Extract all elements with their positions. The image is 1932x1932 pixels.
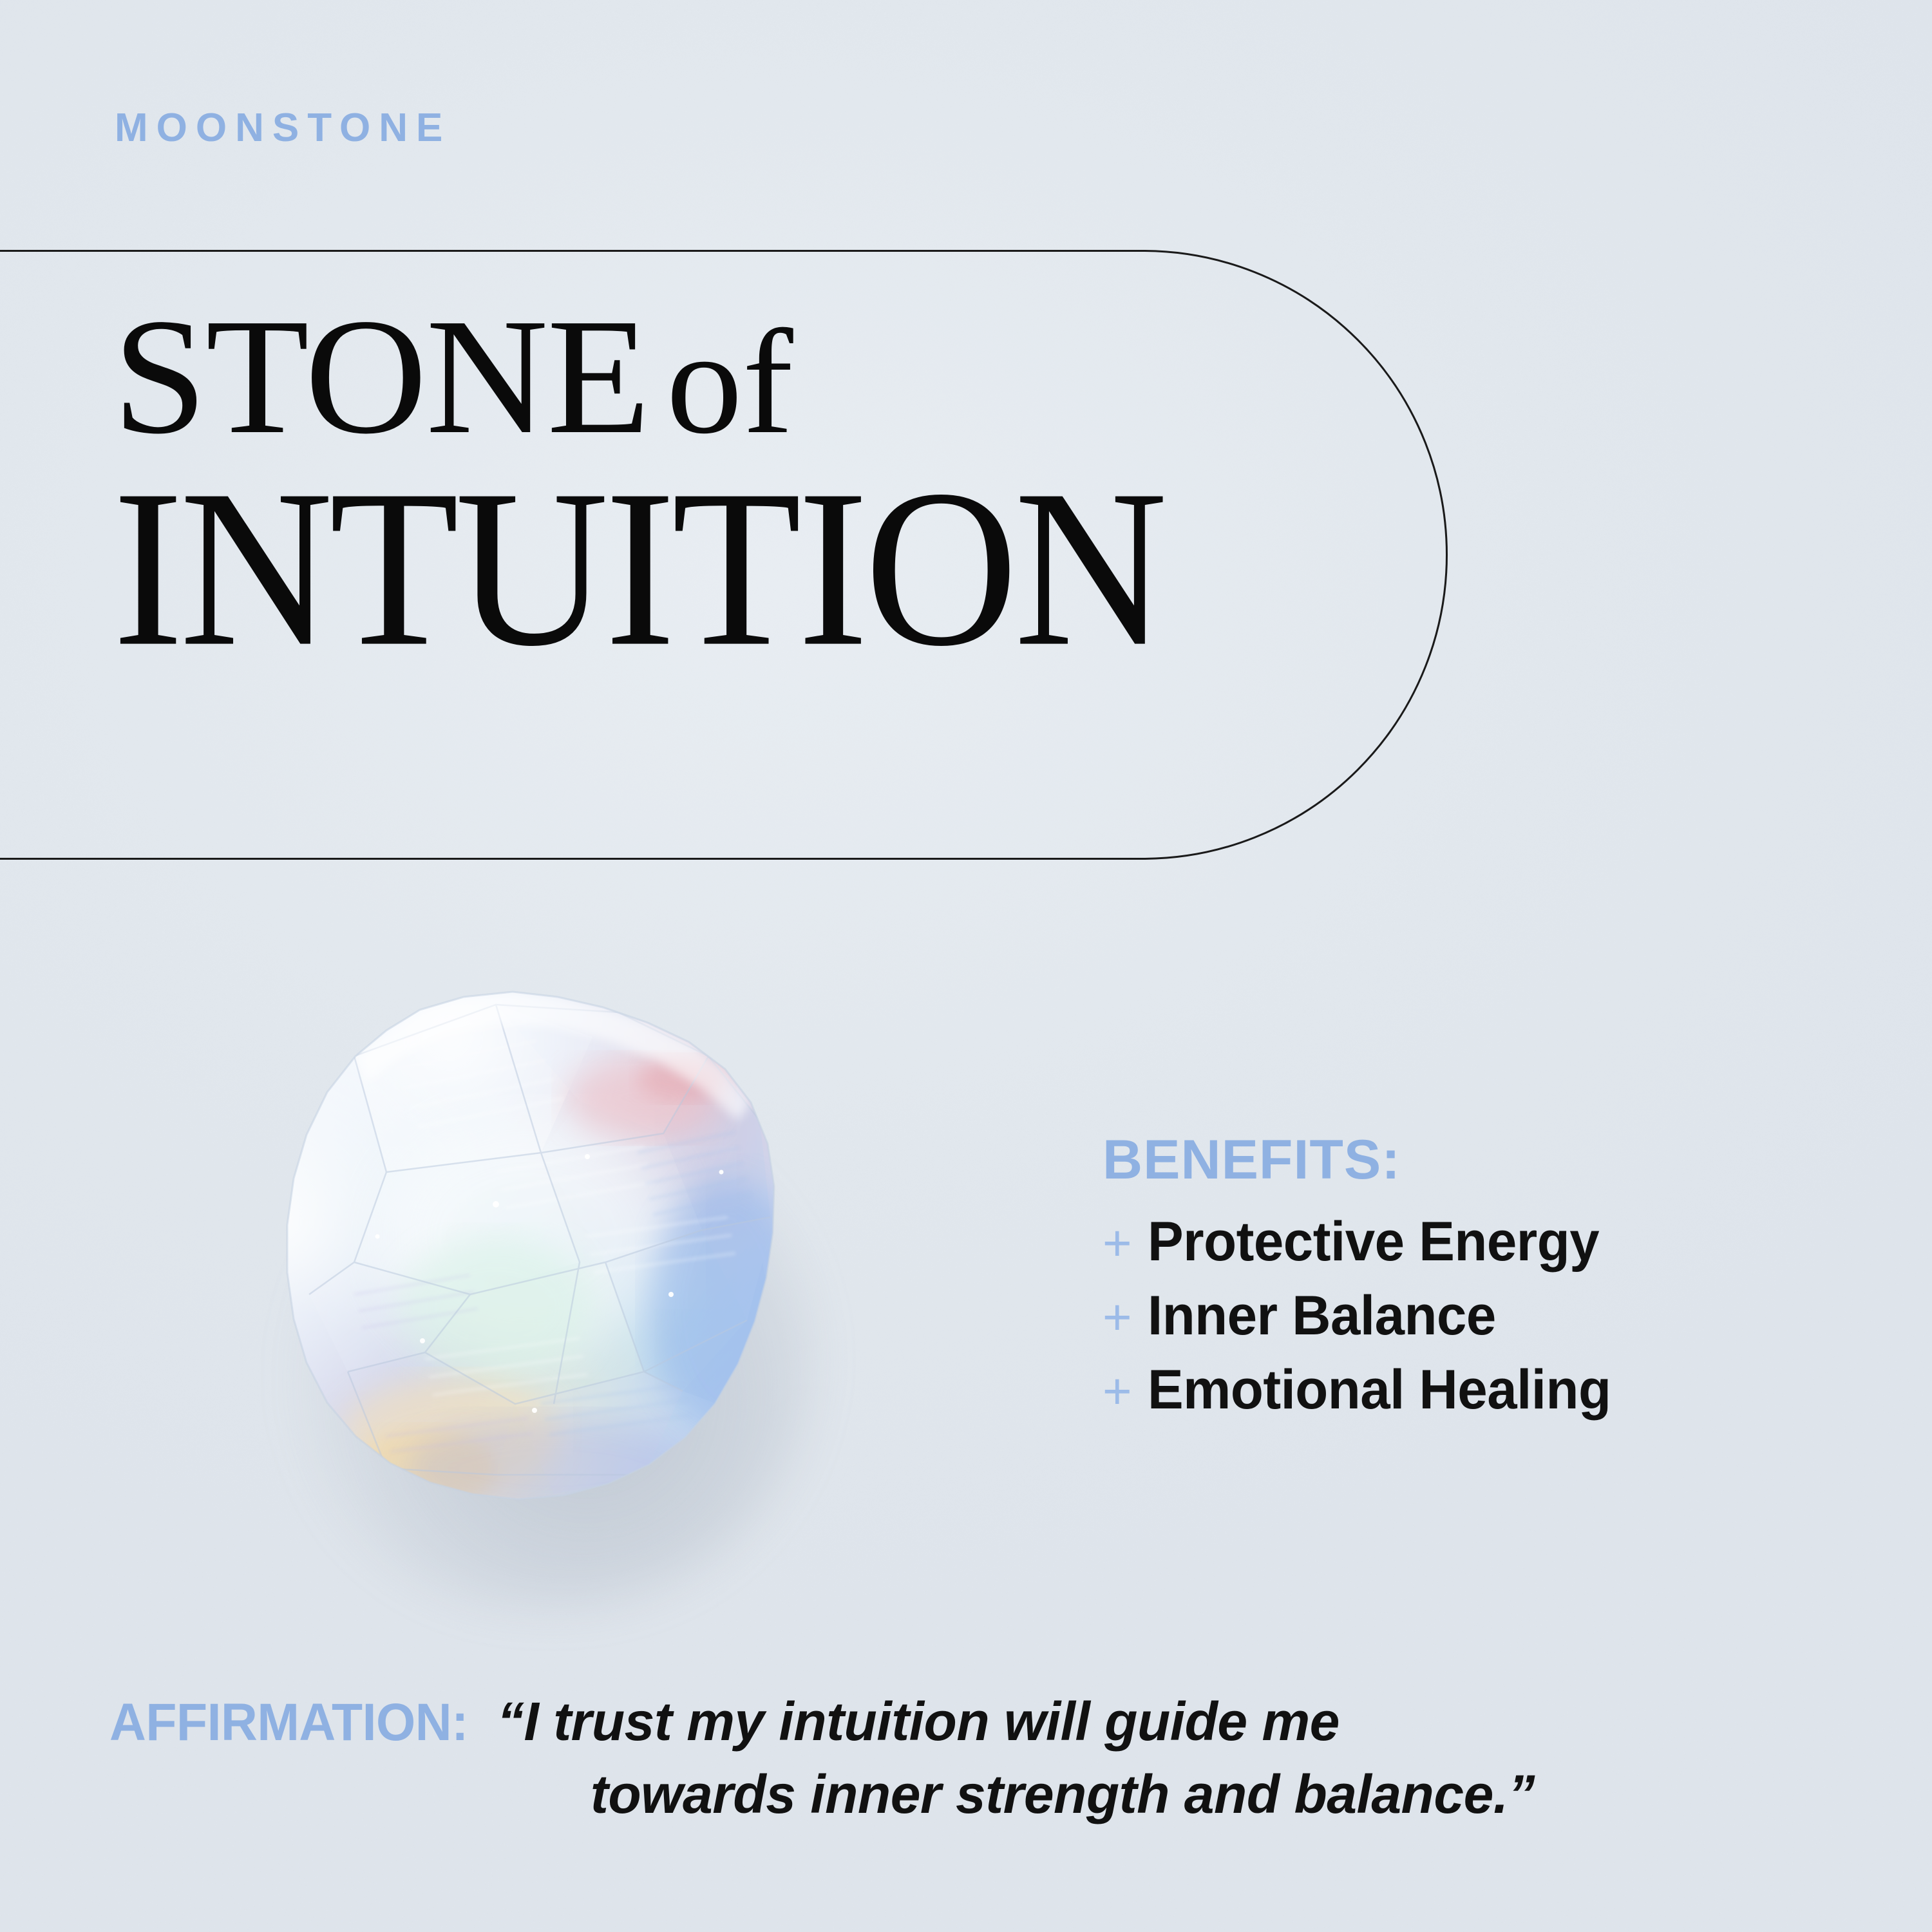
eyebrow-stone-name: MOONSTONE <box>115 108 451 148</box>
affirmation-first-line: AFFIRMATION: “I trust my intuition will … <box>109 1686 1823 1757</box>
benefits-heading: BENEFITS: <box>1103 1132 1862 1188</box>
headline-connector: of <box>649 299 793 465</box>
crystal-info-card: MOONSTONE STONEof INTUITION <box>0 0 1932 1932</box>
plus-bullet-icon: + <box>1103 1292 1148 1342</box>
benefit-label: Inner Balance <box>1148 1286 1496 1346</box>
benefit-item: + Emotional Healing <box>1103 1360 1862 1420</box>
benefits-section: BENEFITS: + Protective Energy + Inner Ba… <box>1103 1132 1862 1434</box>
benefit-label: Emotional Healing <box>1148 1360 1611 1420</box>
benefit-item: + Inner Balance <box>1103 1286 1862 1346</box>
benefit-item: + Protective Energy <box>1103 1212 1862 1272</box>
benefit-label: Protective Energy <box>1148 1212 1599 1272</box>
moonstone-crystal-icon <box>193 960 837 1616</box>
affirmation-second-line: towards inner strength and balance.” <box>109 1759 1823 1830</box>
affirmation-label: AFFIRMATION: <box>109 1692 468 1753</box>
crystal-image <box>193 960 837 1616</box>
affirmation-section: AFFIRMATION: “I trust my intuition will … <box>0 1686 1932 1830</box>
plus-bullet-icon: + <box>1103 1218 1148 1268</box>
affirmation-quote-line-2: towards inner strength and balance.” <box>591 1764 1535 1824</box>
headline-line1-main: STONE <box>113 284 649 468</box>
page-title: STONEof INTUITION <box>113 301 1401 664</box>
plus-bullet-icon: + <box>1103 1366 1148 1416</box>
affirmation-quote-line-1: “I trust my intuition will guide me <box>483 1686 1340 1757</box>
headline-line2: INTUITION <box>113 467 1401 670</box>
